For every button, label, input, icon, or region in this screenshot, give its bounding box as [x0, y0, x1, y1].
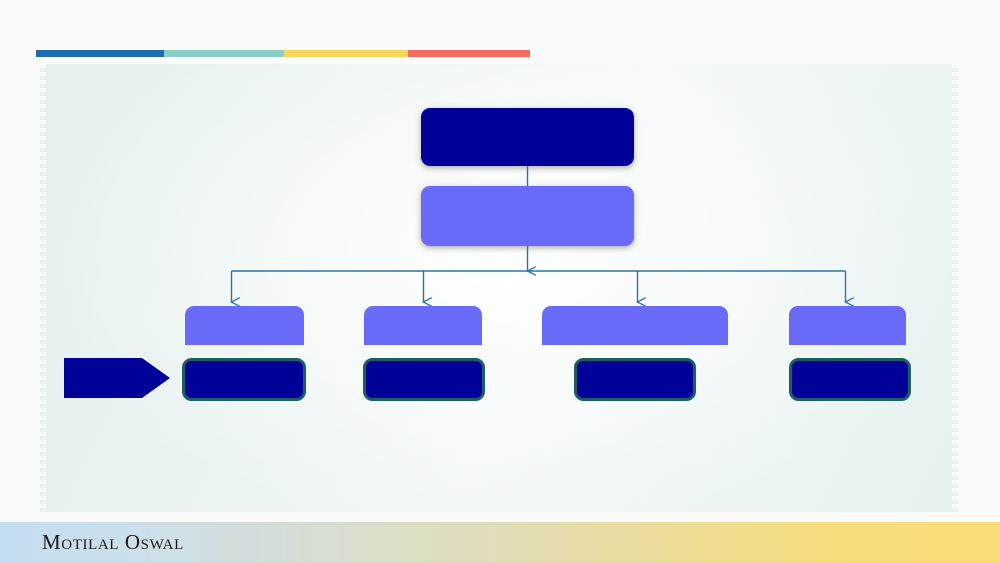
footer-brand-title: Motilal Oswal — [42, 530, 184, 555]
accent-segment-red — [408, 50, 530, 57]
accent-segment-yellow — [284, 50, 408, 57]
accent-bar — [36, 50, 530, 57]
accent-segment-teal — [164, 50, 284, 57]
panel-right-edge — [952, 64, 958, 512]
panel-left-edge — [40, 64, 46, 512]
accent-segment-blue — [36, 50, 164, 57]
content-panel — [40, 64, 958, 512]
slide-canvas: Motilal Oswal — [0, 0, 1000, 563]
